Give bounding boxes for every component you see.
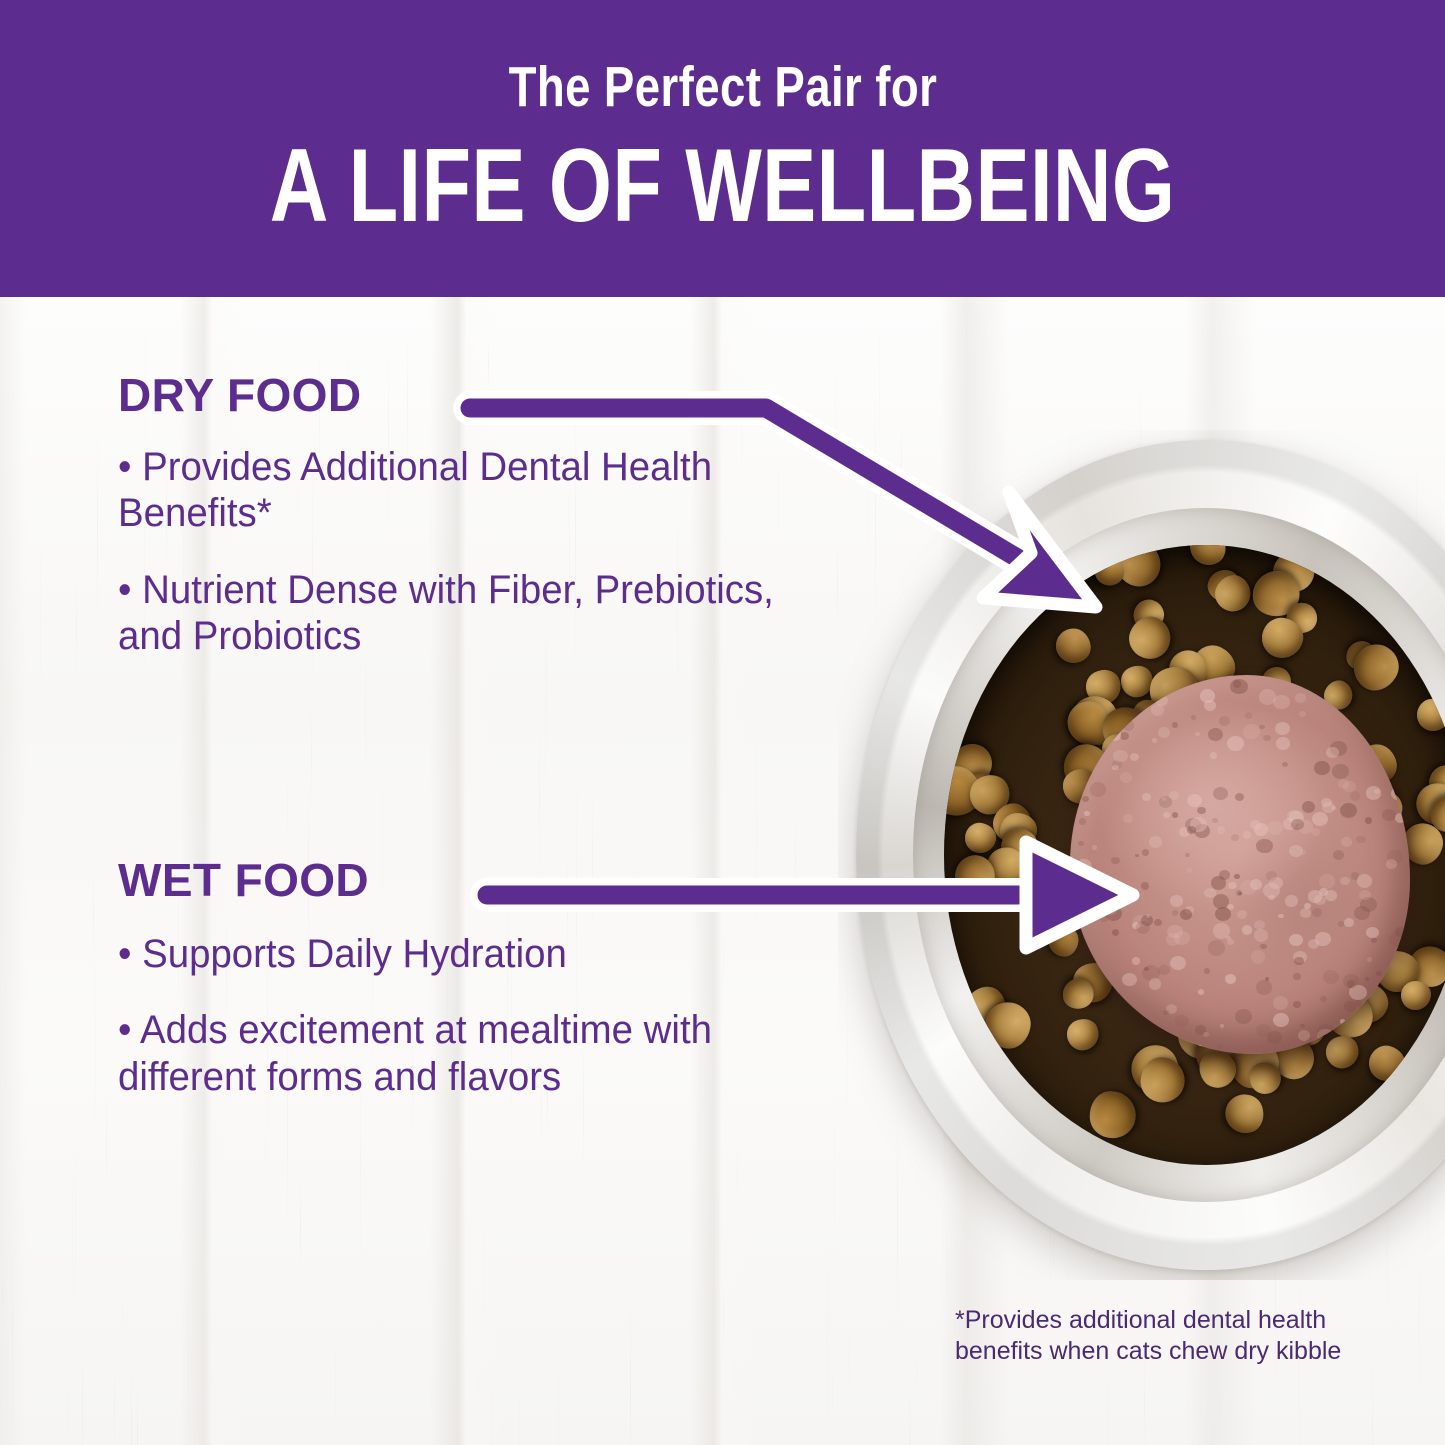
kibble-piece	[1088, 1090, 1136, 1139]
wet-food-bullet-1: • Supports Daily Hydration	[118, 931, 790, 977]
dry-food-bullet-1: • Provides Additional Dental Health Bene…	[118, 444, 790, 537]
header-band: The Perfect Pair for A LIFE OF WELLBEING	[0, 0, 1445, 297]
kibble-piece	[1400, 980, 1432, 1011]
kibble-piece	[1184, 545, 1232, 572]
wet-food-title: WET FOOD	[118, 857, 818, 903]
kibble-piece	[1414, 697, 1445, 734]
header-title: A LIFE OF WELLBEING	[270, 134, 1176, 238]
food-bowl-image	[838, 430, 1445, 1280]
kibble-piece	[1140, 1056, 1185, 1102]
bowl-rim-outer	[856, 440, 1445, 1270]
wet-food-bullet-list: • Supports Daily Hydration • Adds excite…	[118, 931, 818, 1100]
wet-food-bullet-2: • Adds excitement at mealtime with diffe…	[118, 1007, 790, 1100]
kibble-piece	[1123, 611, 1177, 665]
kibble-piece	[1220, 1089, 1269, 1138]
footnote-text: *Provides additional dental health benef…	[955, 1305, 1375, 1367]
dry-food-section: DRY FOOD • Provides Additional Dental He…	[118, 372, 818, 690]
infographic-page: The Perfect Pair for A LIFE OF WELLBEING…	[0, 0, 1445, 1445]
kibble-piece	[1049, 622, 1097, 670]
dry-food-bullet-list: • Provides Additional Dental Health Bene…	[118, 444, 818, 660]
bowl-interior	[944, 545, 1445, 1166]
dry-food-title: DRY FOOD	[118, 372, 818, 418]
dry-food-bullet-2: • Nutrient Dense with Fiber, Prebiotics,…	[118, 567, 790, 660]
kibble-piece	[1364, 1042, 1408, 1086]
header-subtitle: The Perfect Pair for	[508, 59, 937, 116]
wet-food-section: WET FOOD • Supports Daily Hydration • Ad…	[118, 857, 818, 1130]
